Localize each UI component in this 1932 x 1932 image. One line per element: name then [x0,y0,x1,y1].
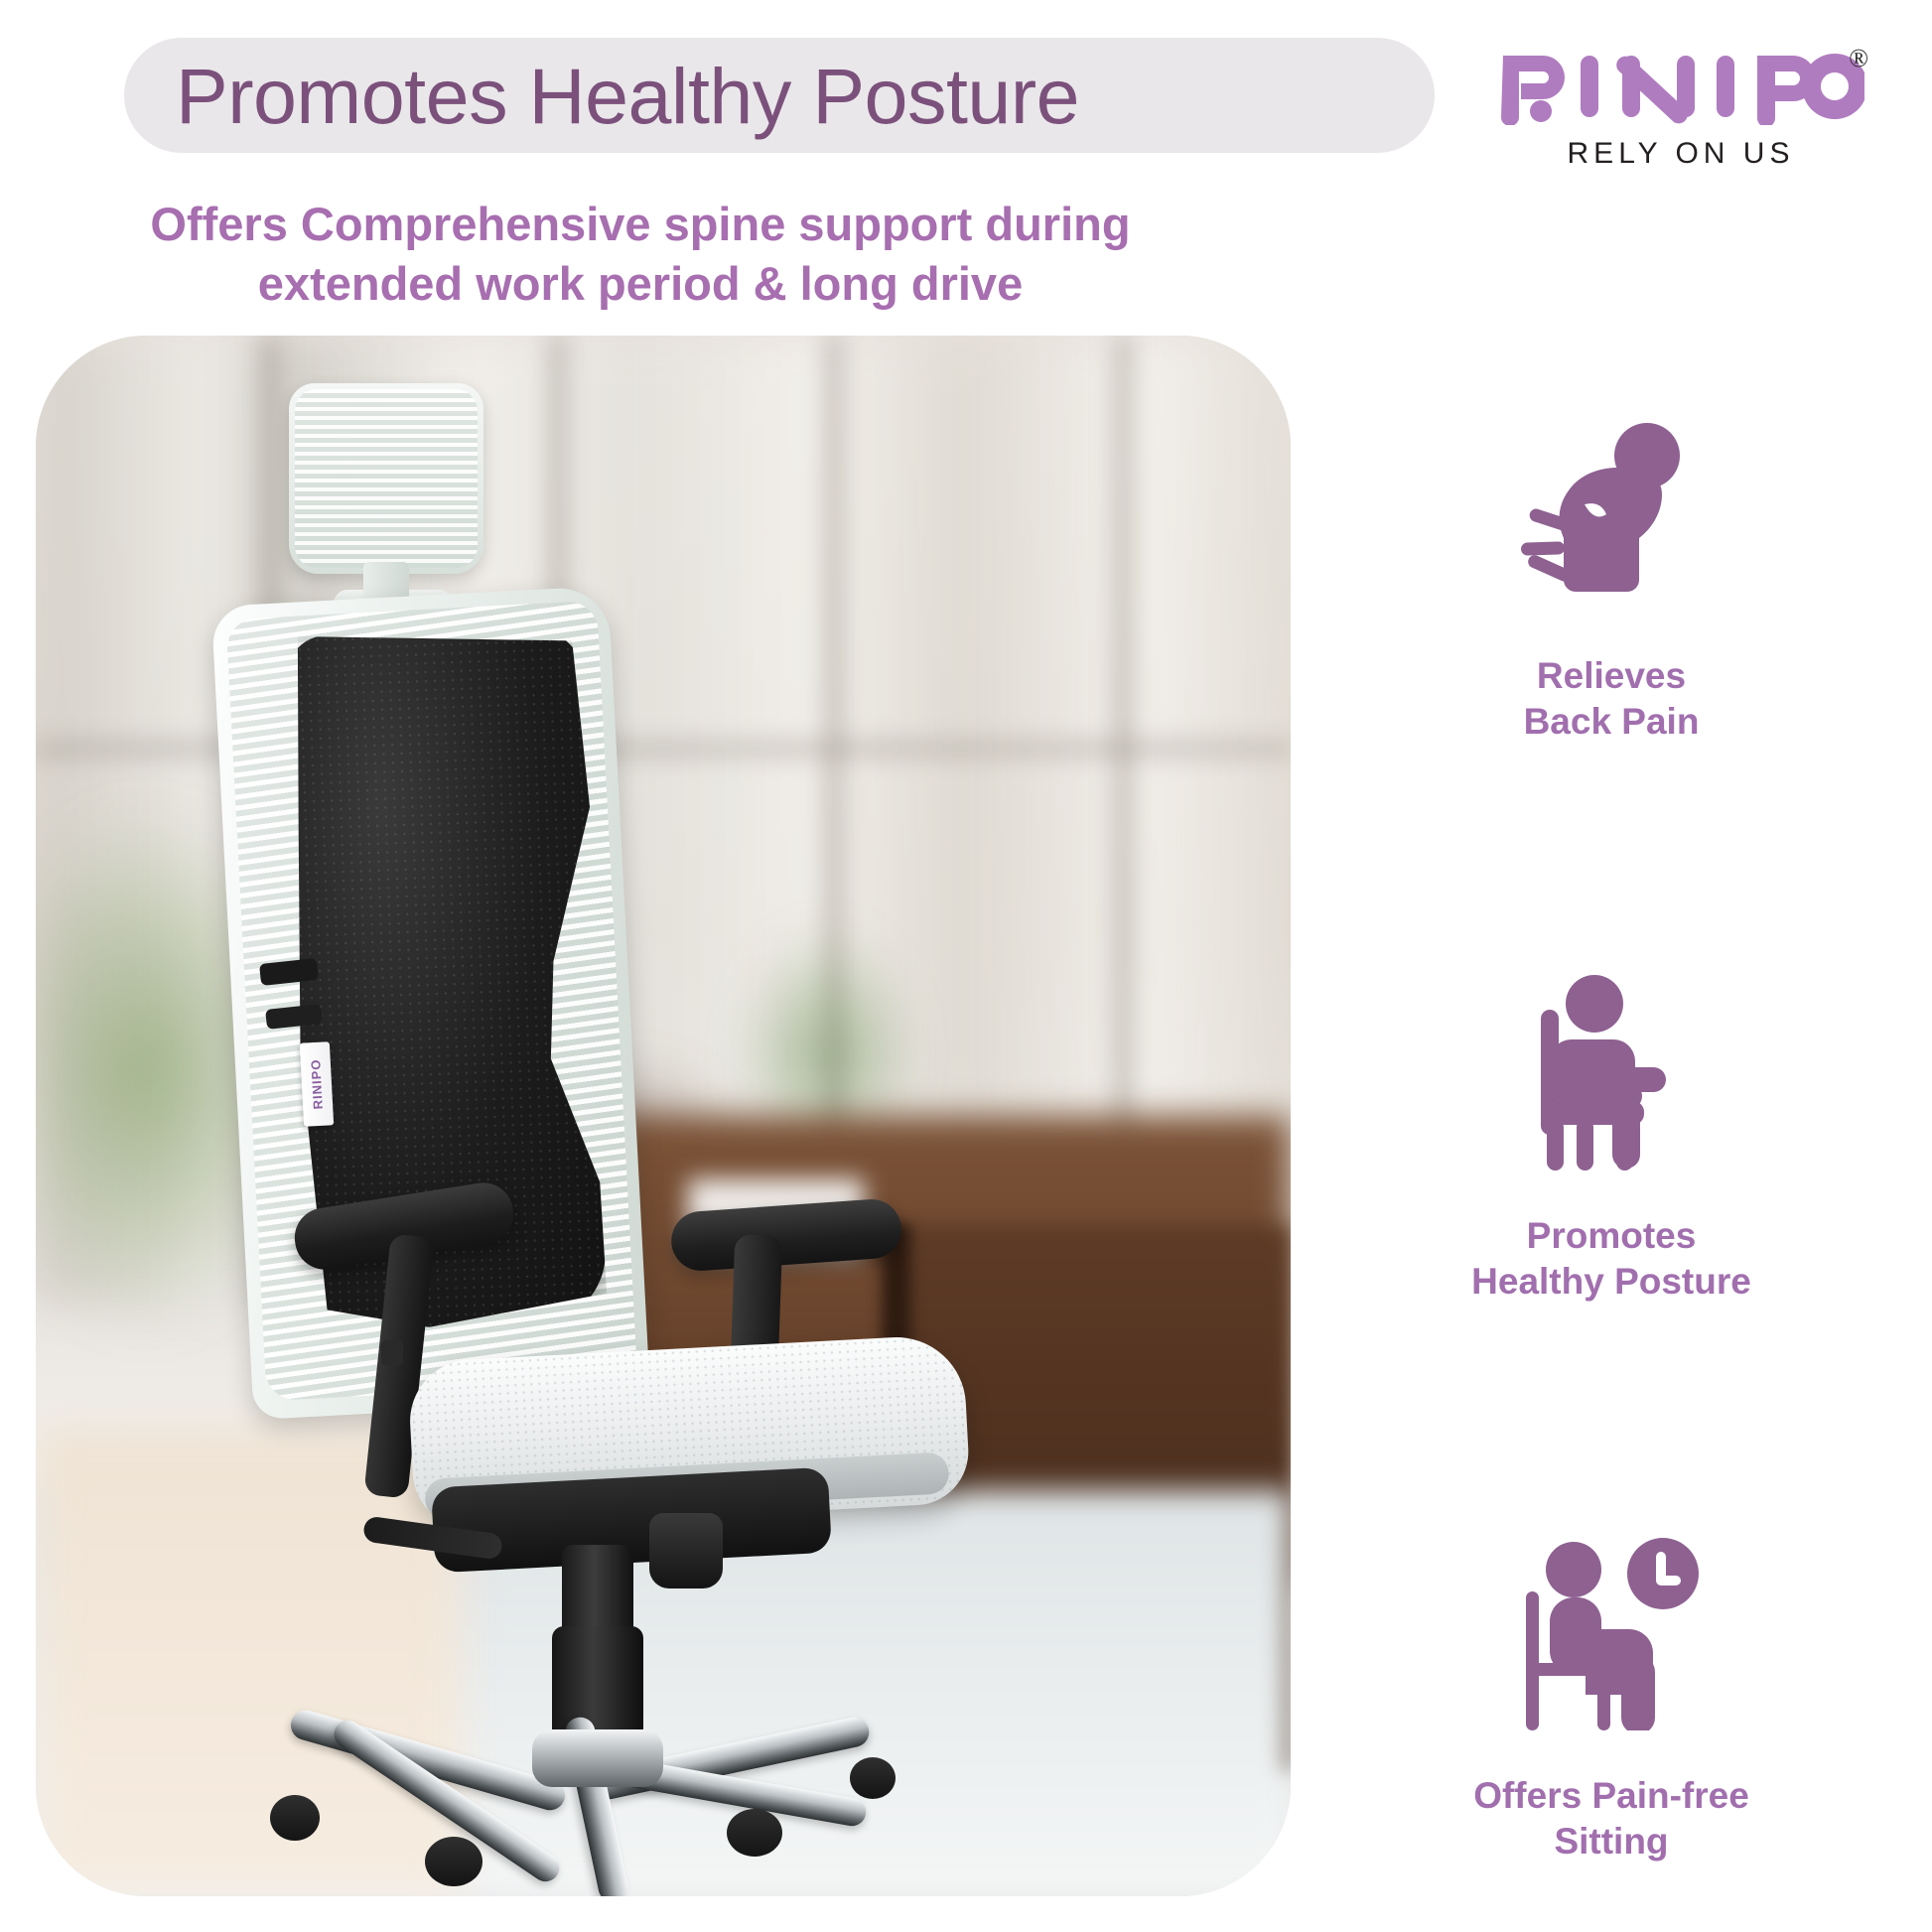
subtitle-line-1: Offers Comprehensive spine support durin… [150,198,1130,250]
subtitle: Offers Comprehensive spine support durin… [0,195,1281,314]
lumbar-brand-tag: RINIPO [300,1041,334,1126]
feature-list: Relieves Back Pain [1291,353,1932,1894]
feature-offers-pain-free-sitting: Offers Pain-free Sitting [1291,1519,1932,1864]
chair-caster [727,1809,782,1857]
registered-trademark-icon: ® [1849,44,1868,73]
chair-caster [850,1757,896,1799]
chair-headrest [289,383,483,574]
feature-label: Offers Pain-free Sitting [1473,1773,1749,1864]
page-title: Promotes Healthy Posture [124,57,1079,135]
feature-label: Promotes Healthy Posture [1471,1213,1751,1305]
chair-armrest-right-pad [669,1197,903,1273]
feature-relieves-back-pain: Relieves Back Pain [1291,399,1932,745]
chair-tension-knob [649,1513,723,1588]
brand-logo: ® RELY ON US [1497,48,1914,187]
subtitle-line-2: extended work period & long drive [0,254,1281,314]
sitting-posture-icon [1507,959,1716,1187]
office-chair: RINIPO [36,336,1291,1896]
brand-tagline: RELY ON US [1497,137,1864,171]
feature-label: Relieves Back Pain [1524,653,1700,745]
sitting-clock-icon [1507,1519,1716,1747]
chair-caster [270,1795,320,1841]
chair-caster [425,1837,483,1886]
brand-wordmark: ® [1497,48,1864,125]
chair-armrest-adjust-knob [381,1340,403,1366]
page-title-pill: Promotes Healthy Posture [124,38,1435,153]
lumbar-brand-tag-text: RINIPO [308,1058,326,1110]
feature-promotes-healthy-posture: Promotes Healthy Posture [1291,959,1932,1305]
back-pain-icon [1507,399,1716,627]
product-photo: RINIPO [36,336,1291,1896]
chair-base-hub [532,1729,663,1787]
header: Promotes Healthy Posture [0,0,1932,199]
